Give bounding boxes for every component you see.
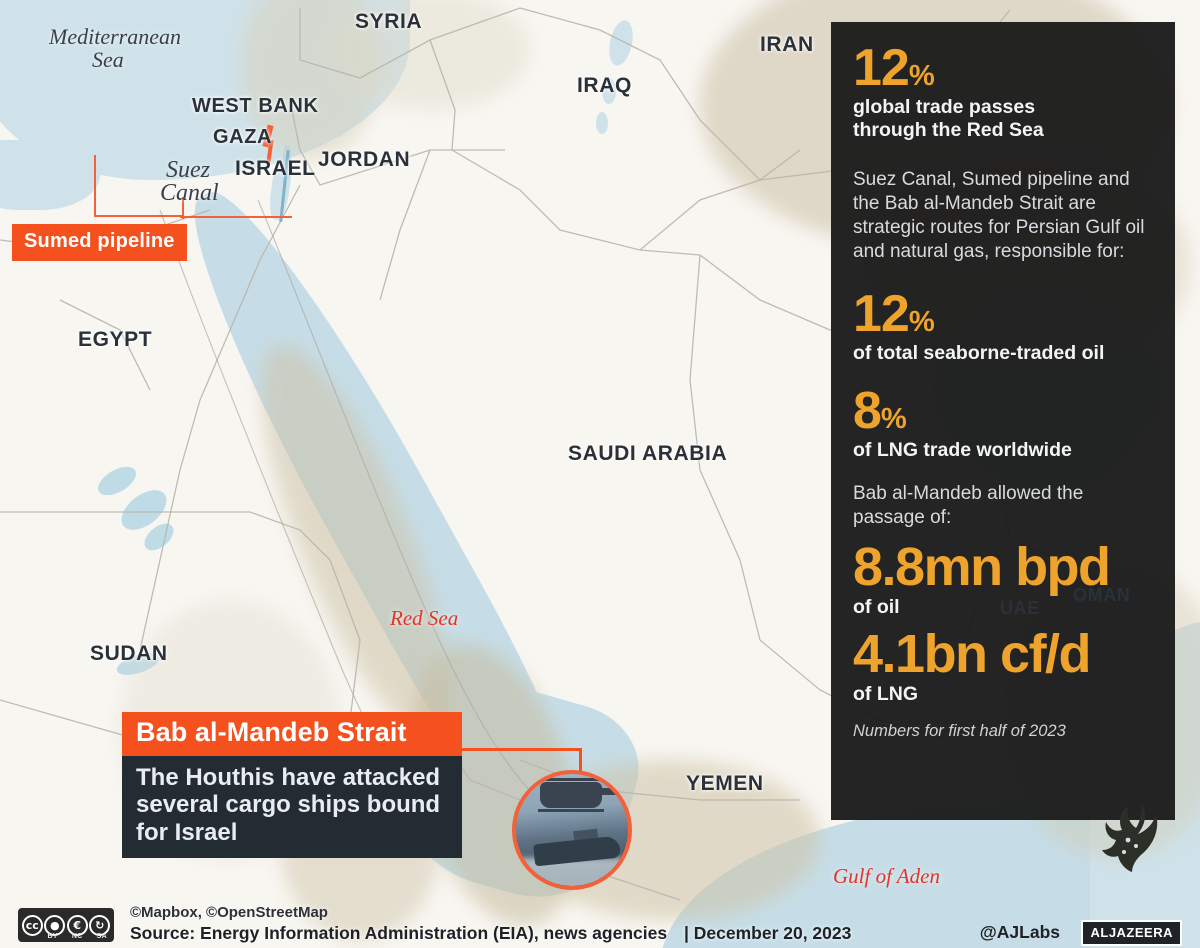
panel-footnote: Numbers for first half of 2023 xyxy=(853,722,1151,741)
cc-sub-nc: NC xyxy=(72,933,83,940)
label-jordan: JORDAN xyxy=(318,148,410,172)
label-red-sea: Red Sea xyxy=(390,606,458,631)
stat-5-value: 4.1bn cf/d xyxy=(853,629,1151,680)
sumed-pipeline-tag[interactable]: Sumed pipeline xyxy=(12,224,187,261)
stat-3-value-group: 8% xyxy=(853,387,1151,436)
panel-paragraph: Suez Canal, Sumed pipeline and the Bab a… xyxy=(853,168,1151,264)
stat-5-caption: of LNG xyxy=(853,683,1151,706)
label-egypt: EGYPT xyxy=(78,328,152,352)
callout-body-line-1: The Houthis have attacked xyxy=(136,764,448,791)
helicopter-skid xyxy=(538,809,604,812)
label-israel: ISRAEL xyxy=(235,157,316,181)
stat-1-value-group: 12% xyxy=(853,44,1151,93)
label-iraq: IRAQ xyxy=(577,74,632,98)
aljazeera-wordmark: ALJAZEERA xyxy=(1081,920,1182,946)
helicopter-rotor xyxy=(522,778,622,781)
label-gulf-of-aden: Gulf of Aden xyxy=(833,864,940,889)
stat-1-unit: % xyxy=(909,60,934,92)
label-west-bank: WEST BANK xyxy=(192,95,319,118)
aljazeera-flame-logo xyxy=(1098,800,1170,886)
stat-2-caption: of total seaborne-traded oil xyxy=(853,342,1151,365)
label-syria: SYRIA xyxy=(355,10,422,34)
callout-body-line-3: for Israel xyxy=(136,819,448,846)
footer-bar: cc ● € ↻ cc BY NC SA ©Mapbox, ©OpenStree… xyxy=(0,892,1200,948)
sumed-pipeline-path-3 xyxy=(180,216,292,218)
label-yemen: YEMEN xyxy=(686,772,764,796)
helicopter-icon xyxy=(540,782,602,808)
label-suez-canal-line2: Canal xyxy=(160,180,219,207)
source-separator: | xyxy=(684,923,689,943)
label-sudan: SUDAN xyxy=(90,642,168,666)
cc-badge-sublabels: cc BY NC SA xyxy=(18,933,114,940)
helicopter-tail xyxy=(594,788,620,795)
sea-wake xyxy=(516,858,632,890)
label-mediterranean-sea-line2: Sea xyxy=(92,47,124,73)
stat-1-value: 12 xyxy=(853,39,909,97)
stat-3-unit: % xyxy=(881,403,906,435)
callout-body: The Houthis have attacked several cargo … xyxy=(122,756,462,858)
stat-2-value-group: 12% xyxy=(853,290,1151,339)
source-line: Source: Energy Information Administratio… xyxy=(130,923,851,944)
stat-2-unit: % xyxy=(909,306,934,338)
stat-3-value: 8 xyxy=(853,382,881,440)
label-saudi-arabia: SAUDI ARABIA xyxy=(568,442,727,466)
callout-body-line-2: several cargo ships bound xyxy=(136,791,448,818)
callout-leader-horizontal xyxy=(460,748,582,751)
callout-title: Bab al-Mandeb Strait xyxy=(122,712,462,756)
label-iran: IRAN xyxy=(760,33,814,57)
publication-date: December 20, 2023 xyxy=(694,923,852,943)
panel-lead-in: Bab al-Mandeb allowed the passage of: xyxy=(853,482,1151,530)
cc-sub-by: BY xyxy=(47,933,57,940)
stat-2-value: 12 xyxy=(853,285,909,343)
source-text: Source: Energy Information Administratio… xyxy=(130,923,667,943)
stat-1-caption-line-2: through the Red Sea xyxy=(853,119,1151,142)
bab-al-mandeb-callout[interactable]: Bab al-Mandeb Strait The Houthis have at… xyxy=(122,712,462,858)
label-oman: OMAN xyxy=(1073,585,1130,606)
incident-photo-circle[interactable] xyxy=(512,770,632,890)
label-uae: UAE xyxy=(1000,598,1040,619)
infographic-root: Mediterranean Sea Suez Canal Red Sea Gul… xyxy=(0,0,1200,948)
label-gaza: GAZA xyxy=(213,126,272,149)
ajlabs-handle: @AJLabs xyxy=(980,922,1060,943)
cc-sub-sa: SA xyxy=(97,933,107,940)
statistics-panel: 12% global trade passes through the Red … xyxy=(831,22,1175,820)
map-attribution: ©Mapbox, ©OpenStreetMap xyxy=(130,904,328,921)
stat-3-caption: of LNG trade worldwide xyxy=(853,439,1151,462)
stat-1-caption-line-1: global trade passes xyxy=(853,96,1151,119)
